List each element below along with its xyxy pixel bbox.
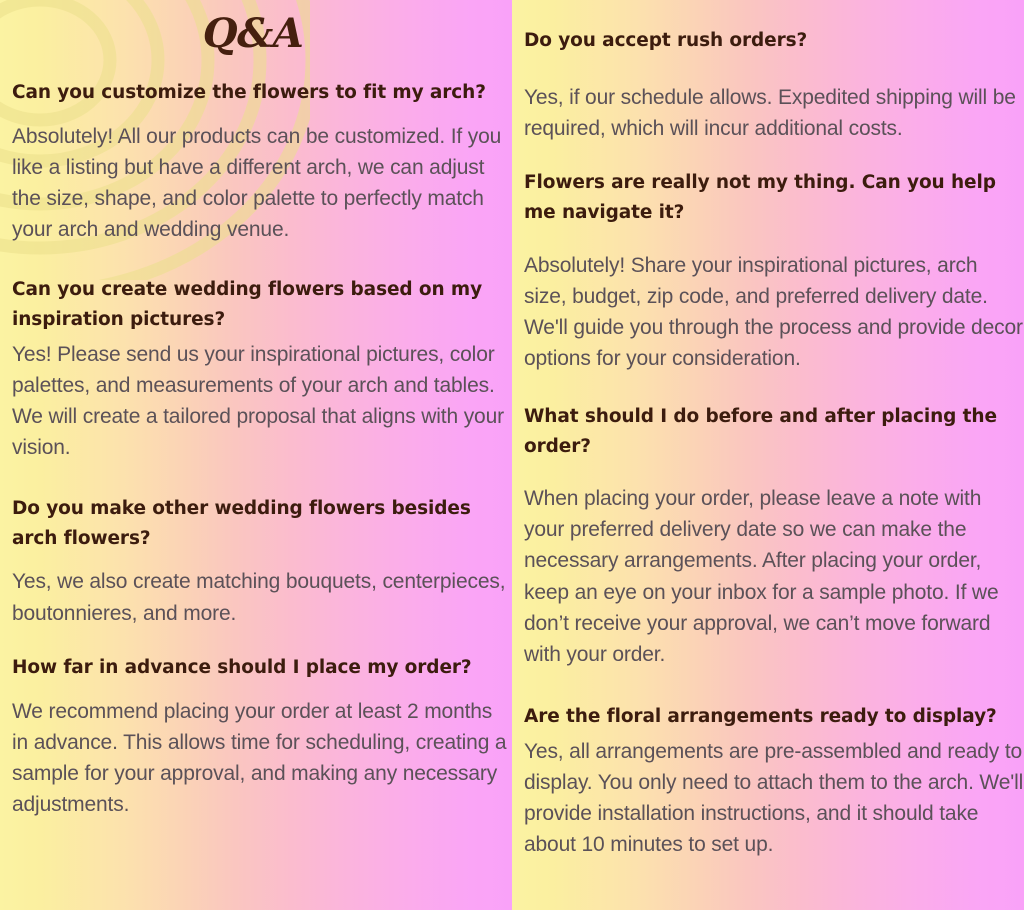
answer-text: We recommend placing your order at least… [12, 696, 512, 820]
qa-item: Can you customize the flowers to fit my … [12, 78, 512, 245]
question-heading: Do you accept rush orders? [524, 26, 1024, 56]
qa-item: Do you accept rush orders? Yes, if our s… [524, 26, 1024, 144]
answer-text: Yes, if our schedule allows. Expedited s… [524, 82, 1024, 144]
faq-column-left-content: Q&A Can you customize the flowers to fit… [0, 14, 512, 820]
question-heading: How far in advance should I place my ord… [12, 653, 512, 683]
answer-text: Yes! Please send us your inspirational p… [12, 339, 512, 463]
qa-item: What should I do before and after placin… [524, 402, 1024, 669]
qa-item: Flowers are really not my thing. Can you… [524, 168, 1024, 374]
question-heading: Are the floral arrangements ready to dis… [524, 702, 1024, 732]
qa-item: Can you create wedding flowers based on … [12, 275, 512, 463]
faq-column-right: Do you accept rush orders? Yes, if our s… [512, 0, 1024, 910]
qa-item: Are the floral arrangements ready to dis… [524, 702, 1024, 860]
question-heading: Do you make other wedding flowers beside… [12, 494, 512, 554]
answer-text: Yes, all arrangements are pre-assembled … [524, 736, 1024, 860]
answer-text: When placing your order, please leave a … [524, 483, 1024, 669]
answer-text: Yes, we also create matching bouquets, c… [12, 566, 512, 628]
answer-text: Absolutely! Share your inspirational pic… [524, 250, 1024, 374]
qa-item: Do you make other wedding flowers beside… [12, 494, 512, 629]
question-heading: Can you create wedding flowers based on … [12, 275, 512, 335]
question-heading: Flowers are really not my thing. Can you… [524, 168, 1024, 228]
faq-board: Q&A Can you customize the flowers to fit… [0, 0, 1024, 910]
faq-column-right-content: Do you accept rush orders? Yes, if our s… [512, 26, 1024, 860]
answer-text: Absolutely! All our products can be cust… [12, 121, 512, 245]
faq-column-left: Q&A Can you customize the flowers to fit… [0, 0, 512, 910]
qa-item: How far in advance should I place my ord… [12, 653, 512, 820]
page-title: Q&A [12, 14, 494, 54]
question-heading: What should I do before and after placin… [524, 402, 1024, 462]
question-heading: Can you customize the flowers to fit my … [12, 78, 512, 108]
